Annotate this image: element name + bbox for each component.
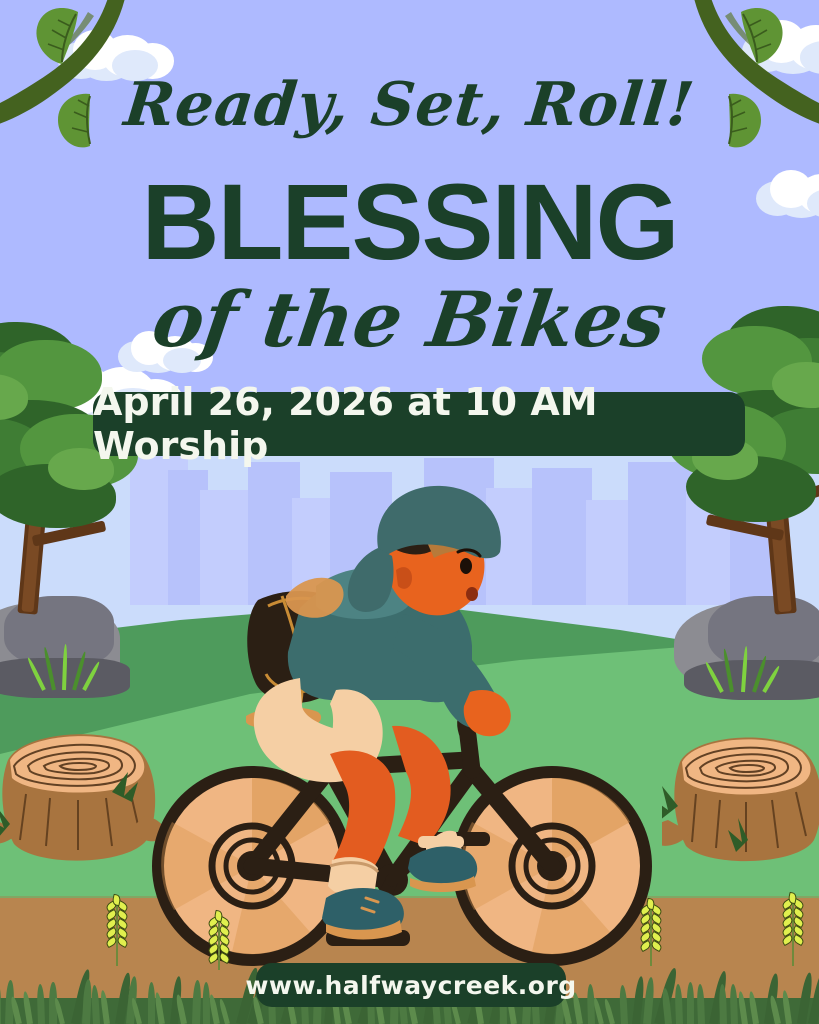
- date-banner: April 26, 2026 at 10 AM Worship: [93, 392, 745, 456]
- grass-blade: [148, 982, 156, 1024]
- grass-blade: [675, 984, 684, 1024]
- grass-blade: [719, 984, 727, 1024]
- grass-blade: [91, 985, 100, 1024]
- website-url-banner[interactable]: www.halfwaycreek.org: [256, 963, 566, 1007]
- grass-blade: [697, 984, 706, 1024]
- cyclist-head: [348, 486, 501, 615]
- wheat-stalk-icon: [640, 906, 662, 966]
- wheat-stalk-icon: [106, 902, 128, 966]
- page-title: BLESSING: [0, 168, 819, 276]
- grass-blade: [192, 980, 201, 1024]
- grass-blade: [619, 985, 628, 1024]
- poster-tagline: Ready, Set, Roll!: [0, 70, 819, 140]
- poster-canvas: Ready, Set, Roll! BLESSING of the Bikes …: [0, 0, 819, 1024]
- grass-blade: [730, 984, 739, 1024]
- poster-subtitle: of the Bikes: [0, 282, 819, 358]
- grass-blade: [37, 984, 46, 1024]
- wheat-stalk-icon: [782, 900, 804, 966]
- wheat-stalk-icon: [208, 918, 230, 970]
- grass-blade: [687, 982, 695, 1024]
